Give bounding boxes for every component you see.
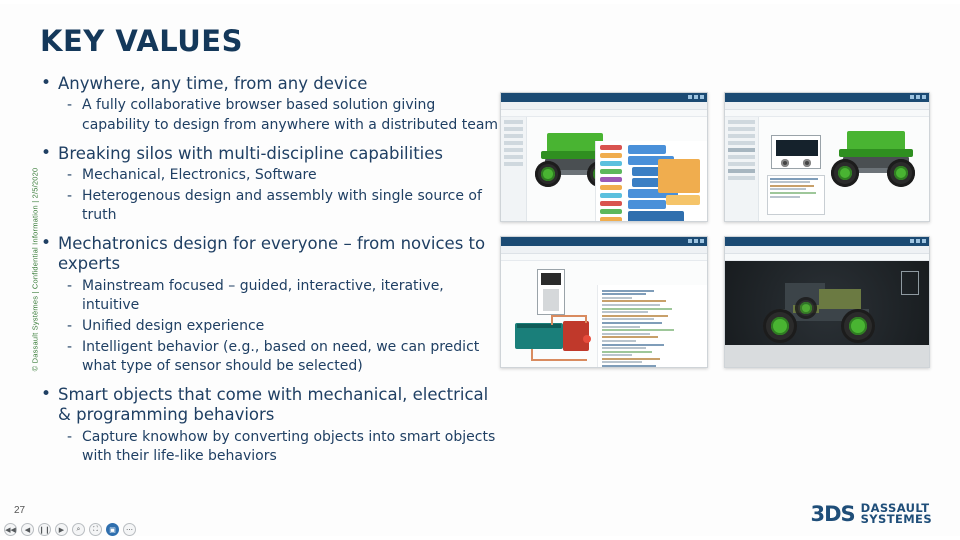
app-title-bar (725, 237, 929, 246)
wire (531, 359, 587, 361)
program-block-highlighted (666, 195, 700, 205)
viewport-3d-dark (725, 261, 929, 367)
bullet-level2: Mechanical, Electronics, Software (36, 166, 501, 186)
block-programming-panel[interactable] (595, 141, 707, 221)
window-controls (688, 239, 704, 243)
app-toolbar-primary (725, 102, 929, 110)
viewport-3d (501, 117, 707, 221)
page-title: KEY VALUES (40, 24, 243, 58)
app-toolbar-secondary (501, 110, 707, 117)
play-pause-button[interactable]: ❙❙ (38, 523, 51, 536)
logo-mark: 3DS (810, 502, 854, 526)
block-palette-item (600, 161, 622, 166)
property-panel (767, 175, 825, 215)
screenshot-grid (500, 92, 930, 377)
app-toolbar-primary (725, 246, 929, 254)
screenshot-3d-chassis-assembly-dark-scene[interactable] (724, 236, 930, 368)
fullscreen-button[interactable]: ⛶ (89, 523, 102, 536)
slide: KEY VALUES © Dassault Systèmes | Confide… (0, 0, 960, 540)
bullet-level2: Intelligent behavior (e.g., based on nee… (36, 338, 501, 377)
app-toolbar-secondary (725, 110, 929, 117)
code-editor-panel[interactable] (597, 285, 707, 367)
bullet-level2: Unified design experience (36, 317, 501, 337)
led-indicator (583, 335, 591, 343)
left-tool-rail (501, 117, 527, 221)
program-block (628, 211, 684, 222)
chassis-assembly-model (759, 279, 899, 353)
wire (585, 315, 587, 323)
page-number: 27 (14, 505, 25, 516)
bullet-level2: Capture knowhow by converting objects in… (36, 428, 501, 467)
block-palette-item (600, 153, 622, 158)
screenshot-circuit-wiring-with-code-editor[interactable] (500, 236, 708, 368)
block-palette-item (600, 177, 622, 182)
window-controls (688, 95, 704, 99)
viewport-3d (725, 117, 929, 221)
window-controls (910, 95, 926, 99)
block-palette-item (600, 201, 622, 206)
bullet-level2-group: Capture knowhow by converting objects in… (36, 428, 501, 467)
measurement-annotation (901, 271, 919, 295)
block-palette-item (600, 193, 622, 198)
program-block (628, 200, 666, 209)
truck-model (829, 129, 919, 199)
logo-wordmark: DASSAULT SYSTEMES (861, 503, 932, 526)
component-body (543, 289, 559, 311)
slide-bottom-edge (0, 536, 960, 540)
app-toolbar-primary (501, 246, 707, 254)
next-slide-button[interactable]: ▶ (55, 523, 68, 536)
block-palette-item (600, 145, 622, 150)
first-slide-button[interactable]: ◀◀ (4, 523, 17, 536)
bullet-level2-group: Mechanical, Electronics, Software Hetero… (36, 166, 501, 226)
camera-button[interactable]: ▣ (106, 523, 119, 536)
bullet-level2: A fully collaborative browser based solu… (36, 96, 501, 135)
block-palette-item (600, 217, 622, 222)
device-screen (776, 140, 818, 156)
bullet-level1: Mechatronics design for everyone – from … (36, 234, 501, 275)
bullet-level2-group: A fully collaborative browser based solu… (36, 96, 501, 135)
previous-slide-button[interactable]: ◀ (21, 523, 34, 536)
search-button[interactable]: ⌕ (72, 523, 85, 536)
block-palette-item (600, 209, 622, 214)
block-palette-item (600, 185, 622, 190)
bullet-level1: Anywhere, any time, from any device (36, 74, 501, 94)
app-title-bar (725, 93, 929, 102)
app-toolbar-secondary (725, 254, 929, 261)
ultrasonic-sensor-eye (803, 159, 811, 167)
bullet-level1: Smart objects that come with mechanical,… (36, 385, 501, 426)
brand-logo: 3DS DASSAULT SYSTEMES (810, 502, 932, 526)
ultrasonic-sensor-eye (781, 159, 789, 167)
bullet-level1: Breaking silos with multi-discipline cap… (36, 144, 501, 164)
app-title-bar (501, 237, 707, 246)
board-header-pins (517, 324, 561, 328)
app-title-bar (501, 93, 707, 102)
logo-line-2: SYSTEMES (861, 514, 932, 526)
screenshot-3d-truck-with-sensor-device[interactable] (724, 92, 930, 222)
bullet-list: Anywhere, any time, from any device A fu… (36, 74, 501, 475)
slide-top-edge (0, 0, 960, 4)
circuit-canvas (501, 261, 707, 367)
sensor-device-panel (771, 135, 821, 169)
component-display (541, 273, 561, 285)
more-options-button[interactable]: ⋯ (123, 523, 136, 536)
block-palette-item (600, 169, 622, 174)
bullet-level2: Heterogenous design and assembly with si… (36, 187, 501, 226)
presentation-player-controls[interactable]: ◀◀ ◀ ❙❙ ▶ ⌕ ⛶ ▣ ⋯ (4, 523, 136, 536)
bullet-level2: Mainstream focused – guided, interactive… (36, 277, 501, 316)
wire (551, 315, 585, 317)
window-controls (910, 239, 926, 243)
left-tool-rail (725, 117, 759, 221)
program-block-highlighted (658, 159, 700, 193)
bullet-level2-group: Mainstream focused – guided, interactive… (36, 277, 501, 377)
screenshot-3d-truck-with-block-programming[interactable] (500, 92, 708, 222)
app-toolbar-primary (501, 102, 707, 110)
app-toolbar-secondary (501, 254, 707, 261)
program-block (628, 145, 666, 154)
